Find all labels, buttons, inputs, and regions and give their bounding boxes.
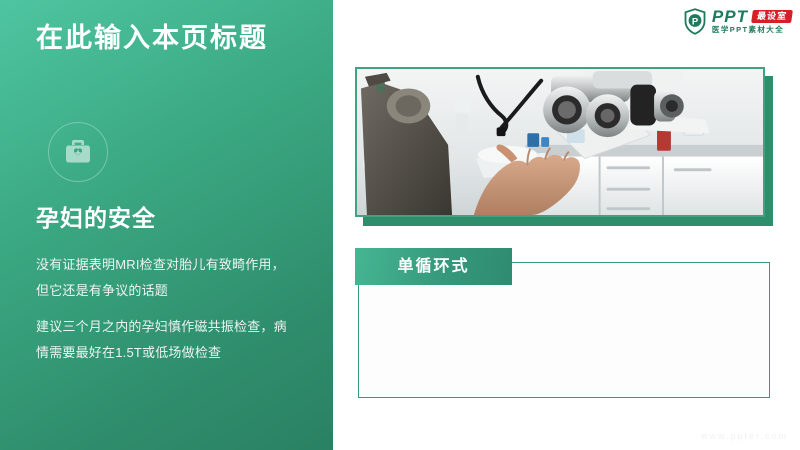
left-green-panel: 在此输入本页标题 孕妇的安全 没有证据表明MRI检查对胎儿有致畸作用，但它还是有… xyxy=(0,0,333,450)
logo-text-block: PPT 最设室 医学PPT素材大全 xyxy=(712,8,792,34)
shield-letter: P xyxy=(692,16,699,27)
medical-kit-icon xyxy=(48,122,110,184)
card-tab-label: 单循环式 xyxy=(397,259,469,275)
clinic-photo-illustration xyxy=(357,69,763,215)
shield-icon: P xyxy=(683,8,707,35)
slide-canvas: 在此输入本页标题 孕妇的安全 没有证据表明MRI检查对胎儿有致畸作用，但它还是有… xyxy=(0,0,800,450)
brand-logo[interactable]: P PPT 最设室 医学PPT素材大全 xyxy=(683,6,792,36)
logo-wordmark: PPT xyxy=(712,8,748,25)
page-title: 在此输入本页标题 xyxy=(36,22,268,54)
logo-subtitle: 医学PPT素材大全 xyxy=(712,26,792,34)
site-watermark: www.ppter.com xyxy=(701,431,788,441)
card-tab[interactable]: 单循环式 xyxy=(355,248,512,285)
left-paragraph-1: 没有证据表明MRI检查对胎儿有致畸作用，但它还是有争议的话题 xyxy=(36,252,298,304)
logo-badge: 最设室 xyxy=(751,10,793,23)
logo-primary-row: PPT 最设室 xyxy=(712,8,792,25)
section-heading: 孕妇的安全 xyxy=(36,205,156,233)
left-paragraph-2: 建议三个月之内的孕妇慎作磁共振检查，病情需要最好在1.5T或低场做检查 xyxy=(36,314,298,366)
clinic-photo xyxy=(355,67,765,217)
medical-kit-glyph xyxy=(62,136,94,168)
